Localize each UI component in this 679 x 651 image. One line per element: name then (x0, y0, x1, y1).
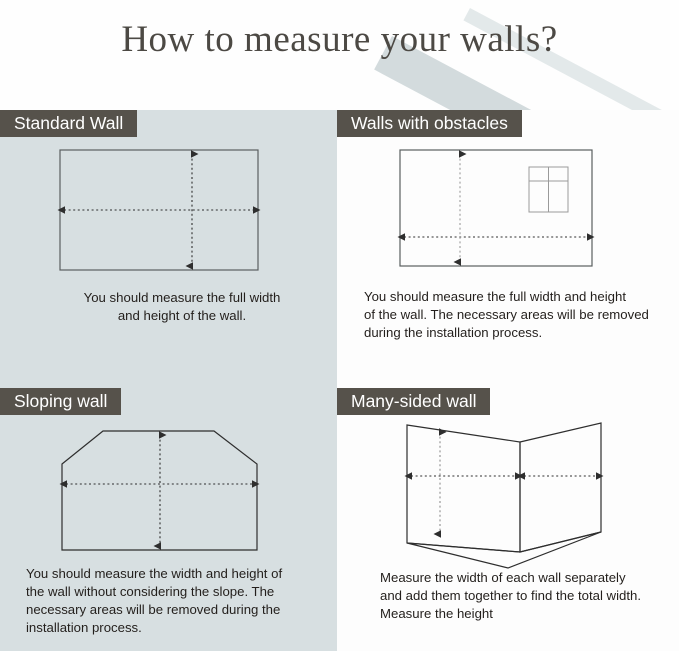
section-heading-walls-with-obstacles: Walls with obstacles (337, 110, 522, 137)
section-heading-sloping-wall: Sloping wall (0, 388, 121, 415)
caption-many-sided-wall: Measure the width of each wall separatel… (380, 569, 670, 623)
page-title: How to measure your walls? (0, 18, 679, 61)
section-heading-many-sided-wall: Many-sided wall (337, 388, 490, 415)
section-heading-standard-wall: Standard Wall (0, 110, 137, 137)
caption-standard-wall: You should measure the full width and he… (47, 289, 317, 325)
infographic-page: How to measure your walls? Standard Wall… (0, 0, 679, 651)
caption-sloping-wall: You should measure the width and height … (26, 565, 316, 637)
caption-walls-with-obstacles: You should measure the full width and he… (364, 288, 664, 342)
